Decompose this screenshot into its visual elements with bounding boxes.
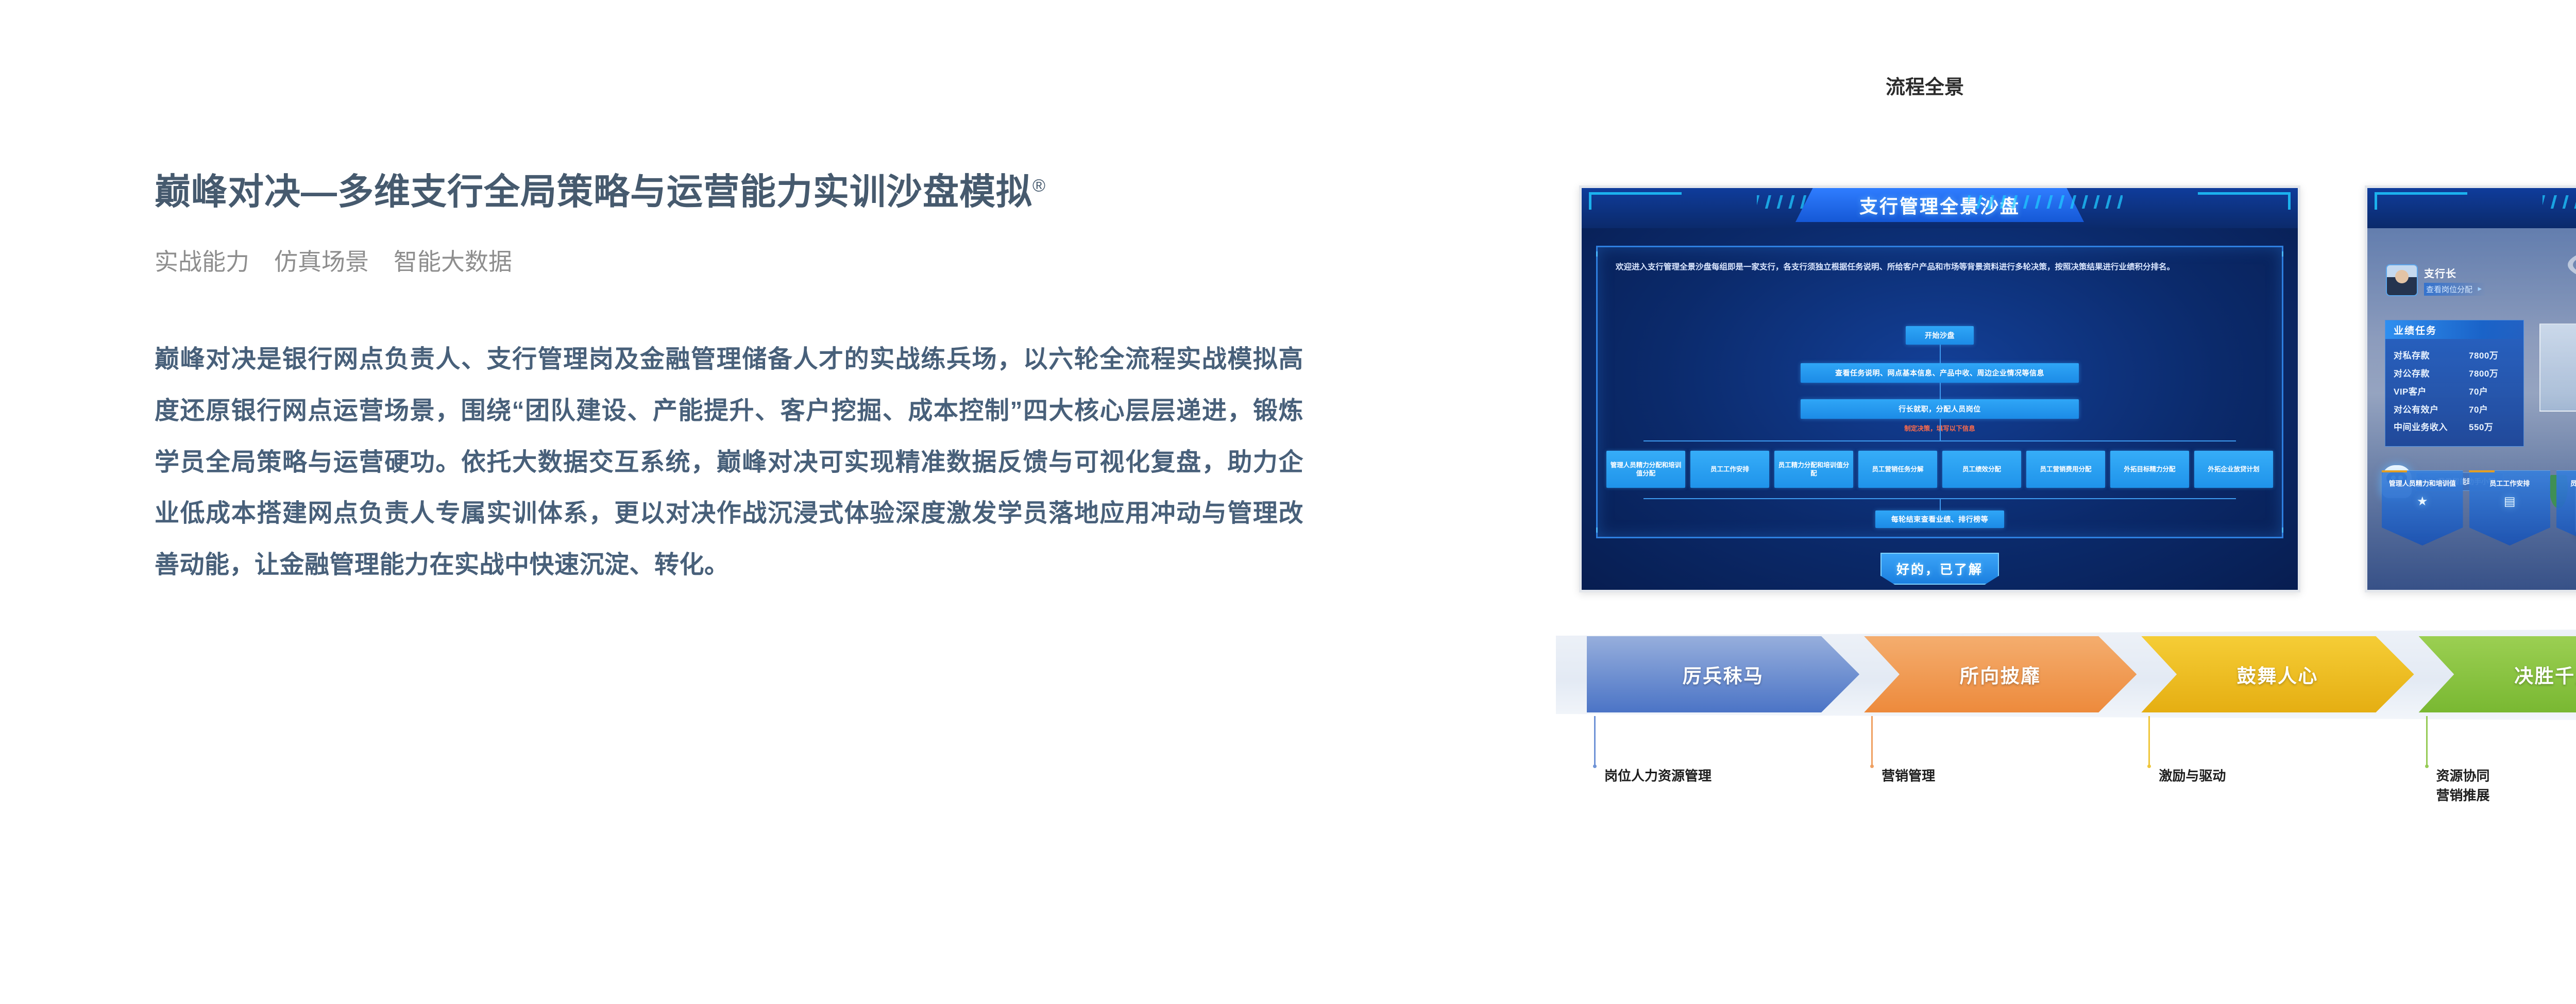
decision-card-label: 员工工作安排 [2487,479,2532,488]
stage-note-3: 资源协同 营销推展 [2436,767,2490,805]
stage-chevron-0[interactable]: 厉兵秣马 [1587,636,1859,712]
feature-tag-2: 智能大数据 [394,243,512,277]
flow-ok-button[interactable]: 好的，已了解 [1880,553,1999,585]
stage-note-1: 营销管理 [1882,767,1935,786]
leader-line-1 [1871,716,1873,765]
decision-card-label: 管理人员精力和培训值 [2387,479,2458,488]
flow-leaf-7[interactable]: 外拓企业放贷计划 [2194,451,2273,488]
stage-chevron-1[interactable]: 所向披靡 [1864,636,2137,712]
flow-leaf-5[interactable]: 员工营销费用分配 [2026,451,2105,488]
glass-wall [2539,324,2576,412]
flow-node-role-assign[interactable]: 行长就职，分配人员岗位 [1801,399,2079,419]
flow-screenshot: 支行管理全景沙盘 欢迎进入支行管理全景沙盘每组即是一家支行，各支行须独立根据任务… [1579,185,2300,592]
kpi-label: 对公有效户 [2394,401,2439,419]
kpi-list: 对私存款 7800万 对公存款 7800万 VIP客户 70户 [2385,339,2523,446]
profile-block: 支行长 查看岗位分配 [2386,264,2486,296]
flow-connector [1940,383,1941,399]
kpi-value: 7800万 [2469,347,2515,365]
kpi-value: 550万 [2469,419,2515,437]
hud-corner-right-icon [2198,192,2291,210]
flow-node-start[interactable]: 开始沙盘 [1906,326,1974,345]
page-title-text: 巅峰对决—多维支行全局策略与运营能力实训沙盘模拟 [155,172,1032,212]
intro-column: 巅峰对决—多维支行全局策略与运营能力实训沙盘模拟® 实战能力 仿真场景 智能大数… [155,170,1314,591]
visual-column: 流程全景 沙盘首页 支行管理全景沙盘 欢迎进入支行管理全景沙盘每组即是一家支行，… [1556,62,2576,525]
flow-leaf-4[interactable]: 员工绩效分配 [1942,451,2021,488]
home-body: 退出沙盘 支行长 查看岗位分配 业绩任务 对私存款 [2367,228,2576,592]
flow-leaf-1[interactable]: 员工工作安排 [1690,451,1769,488]
flow-leaf-6[interactable]: 外拓目标精力分配 [2110,451,2189,488]
leader-line-0 [1594,716,1596,765]
kpi-label: 中间业务收入 [2394,419,2448,437]
leader-line-3 [2426,716,2428,765]
kpi-value: 7800万 [2469,365,2515,383]
flow-header: 支行管理全景沙盘 [1582,188,2298,228]
calendar-icon: ▤ [2501,493,2518,509]
kpi-value: 70户 [2469,401,2515,419]
page-title: 巅峰对决—多维支行全局策略与运营能力实训沙盘模拟® [155,170,1314,213]
home-header: 无敌支行 [2367,188,2576,228]
kpi-panel: 业绩任务 对私存款 7800万 对公存款 7800万 VIP客户 [2385,320,2524,447]
decision-card-staff-schedule[interactable]: 已提交 员工工作安排 ▤ [2469,470,2551,546]
person-star-icon: ★ [2414,493,2431,509]
decision-card-label: 员工精力和培训值 [2568,479,2576,488]
feature-tags: 实战能力 仿真场景 智能大数据 [155,243,1314,277]
flow-connector [1940,419,1941,440]
kpi-row: 中间业务收入 550万 [2394,419,2515,437]
decision-card-manager-energy[interactable]: 已提交 管理人员精力和培训值 ★ [2382,470,2463,546]
stage-chevron-2[interactable]: 鼓舞人心 [2141,636,2414,712]
flow-node-view-info[interactable]: 查看任务说明、网点基本信息、产品中收、周边企业情况等信息 [1801,363,2079,383]
stage-band: 厉兵秣马 所向披靡 鼓舞人心 决胜千里 风云变幻 夯实管理 岗位人力资源管理 营… [1556,626,2576,780]
stage-note-0: 岗位人力资源管理 [1604,767,1711,786]
flow-connector [1940,498,1941,510]
feature-tag-0: 实战能力 [155,243,249,277]
flow-node-results[interactable]: 每轮结束查看业绩、排行榜等 [1875,510,2004,528]
kpi-panel-title: 业绩任务 [2385,320,2523,339]
hud-corner-left-icon [2375,192,2467,210]
flow-leaf-row: 管理人员精力分配和培训值分配 员工工作安排 员工精力分配和培训值分配 员工营销任… [1606,451,2273,488]
profile-role: 支行长 [2424,265,2486,280]
intro-paragraph: 巅峰对决是银行网点负责人、支行管理岗及金融管理储备人才的实战练兵场，以六轮全流程… [155,334,1303,591]
leader-line-2 [2148,716,2150,765]
screenshot-captions: 流程全景 沙盘首页 [1556,62,2576,98]
hud-corner-left-icon [1589,192,1682,210]
kpi-label: 对公存款 [2394,365,2430,383]
profile-text: 支行长 查看岗位分配 [2424,265,2486,296]
flow-intro-text: 欢迎进入支行管理全景沙盘每组即是一家支行，各支行须独立根据任务说明、所给客户产品… [1616,259,2271,275]
feature-tag-1: 仿真场景 [274,243,369,277]
kpi-label: 对私存款 [2394,347,2430,365]
registered-mark: ® [1032,176,1046,196]
page-root: 巅峰对决—多维支行全局策略与运营能力实训沙盘模拟® 实战能力 仿真场景 智能大数… [0,0,2576,1004]
decision-card-row: 已提交 管理人员精力和培训值 ★ 已提交 员工工作安排 ▤ 员工精力和培训值 ◈ [2382,470,2576,546]
caption-flow: 流程全景 [1886,71,1964,99]
avatar [2386,264,2418,296]
flow-bus-line [1643,440,2236,441]
home-screenshot: 无敌支行 [2365,185,2576,592]
view-position-assignment-link[interactable]: 查看岗位分配 [2424,283,2486,296]
kpi-row: 对公存款 7800万 [2394,365,2515,383]
flow-header-title: 支行管理全景沙盘 [1795,188,2084,222]
screenshots: 支行管理全景沙盘 欢迎进入支行管理全景沙盘每组即是一家支行，各支行须独立根据任务… [1556,98,2576,525]
flow-leaf-0[interactable]: 管理人员精力分配和培训值分配 [1606,451,1685,488]
decision-card-staff-energy[interactable]: 员工精力和培训值 ◈ [2556,470,2576,546]
stage-chevrons: 厉兵秣马 所向披靡 鼓舞人心 决胜千里 风云变幻 夯实管理 [1587,636,2576,712]
kpi-label: VIP客户 [2394,383,2427,401]
flow-body: 欢迎进入支行管理全景沙盘每组即是一家支行，各支行须独立根据任务说明、所给客户产品… [1582,228,2298,592]
ceiling-ring-outer [2568,235,2576,294]
kpi-value: 70户 [2469,383,2515,401]
flow-connector [1940,345,1941,363]
flow-leaf-2[interactable]: 员工精力分配和培训值分配 [1774,451,1853,488]
flow-leaf-3[interactable]: 员工营销任务分解 [1858,451,1937,488]
stage-note-2: 激励与驱动 [2159,767,2226,786]
kpi-row: VIP客户 70户 [2394,383,2515,401]
stage-chevron-3[interactable]: 决胜千里 [2419,636,2576,712]
kpi-row: 对私存款 7800万 [2394,347,2515,365]
kpi-row: 对公有效户 70户 [2394,401,2515,419]
